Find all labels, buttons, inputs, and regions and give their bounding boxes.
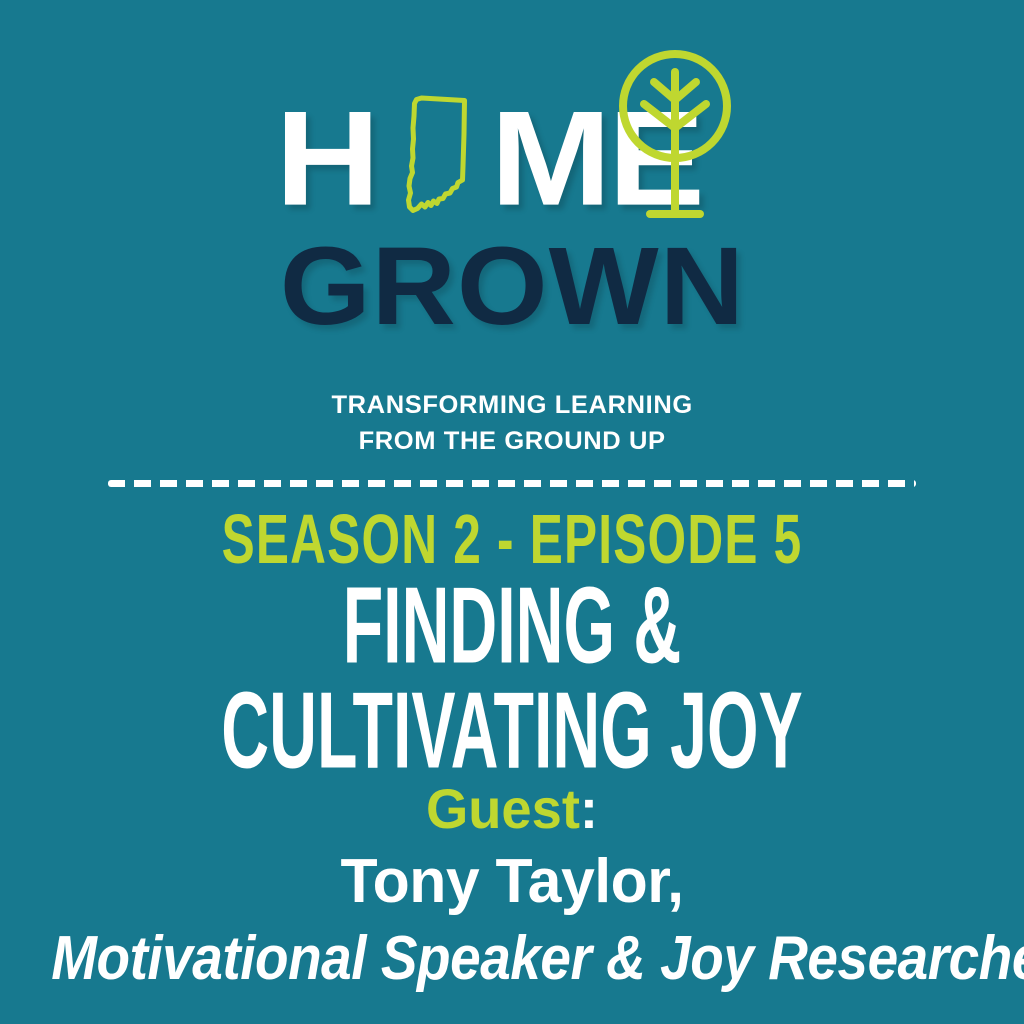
indiana-state-outline-icon [390,94,486,222]
dashed-divider [108,480,916,487]
wordmark-grown: GROWN [279,232,744,342]
episode-title: FINDING & CULTIVATING JOY [143,574,880,785]
brand-logo: H ME [0,44,1024,459]
tagline-line-1: TRANSFORMING LEARNING [331,388,692,424]
brand-tagline: TRANSFORMING LEARNING FROM THE GROUND UP [331,388,692,459]
wordmark-home: H ME [0,44,1024,220]
guest-label-colon: : [580,777,598,840]
tagline-line-2: FROM THE GROUND UP [331,424,692,460]
guest-label: Guest: [15,778,1008,841]
guest-name: Tony Taylor, [10,847,1014,916]
episode-title-line-2: CULTIVATING JOY [143,680,880,785]
episode-info: SEASON 2 - EPISODE 5 FINDING & CULTIVATI… [0,505,1024,753]
guest-role: Motivational Speaker & Joy Researcher [51,924,973,992]
episode-title-line-1: FINDING & [143,574,880,679]
guest-info: Guest: Tony Taylor, Motivational Speaker… [0,778,1024,991]
podcast-cover-art: H ME [0,0,1024,1024]
tree-icon [614,44,736,226]
guest-label-text: Guest [426,777,580,840]
wordmark-letter-h: H [275,91,379,226]
